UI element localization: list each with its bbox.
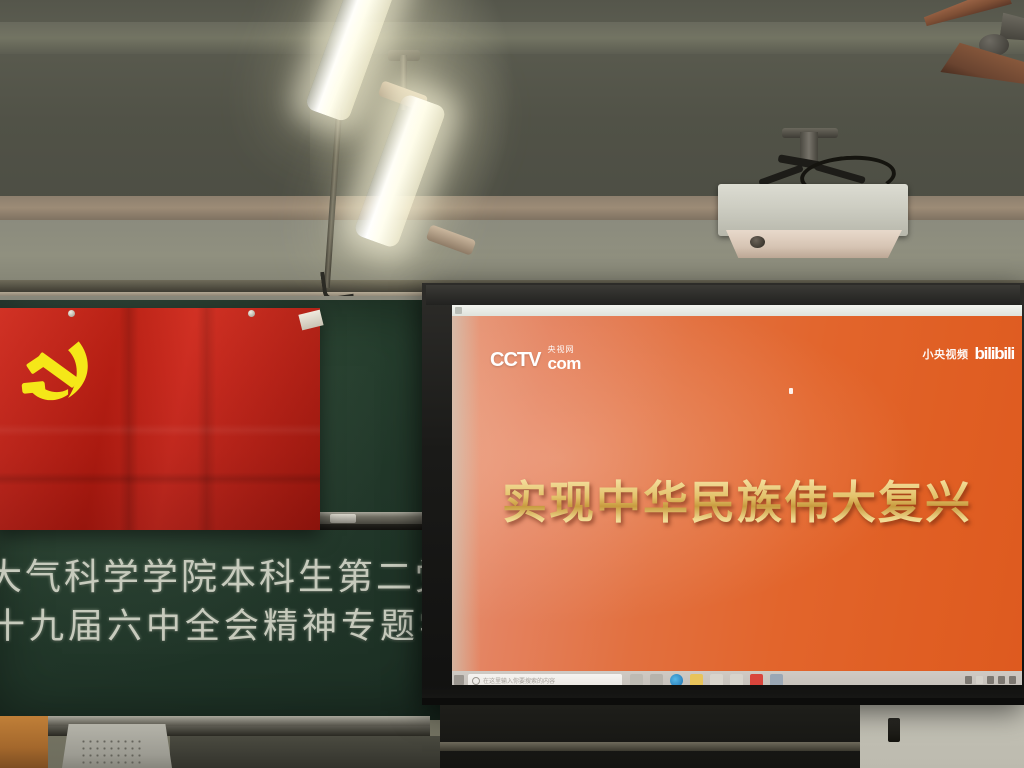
settings-icon[interactable] (630, 674, 643, 685)
display-screen[interactable]: CCTV 央视网 com 小央视频 bilibili 实现中华民族伟大复兴 在这… (452, 305, 1022, 685)
ceiling-projector: EPSON (716, 150, 912, 260)
flag-pin-icon (68, 310, 75, 317)
mail-icon[interactable] (730, 674, 743, 685)
cpc-party-flag (0, 308, 320, 530)
chalkboard-bottom-rail (0, 716, 430, 726)
display-bezel-top (426, 285, 1020, 305)
bilibili-logo-text: bilibili (974, 344, 1014, 364)
store-icon[interactable] (710, 674, 723, 685)
light-switch[interactable] (888, 718, 900, 742)
search-icon (472, 677, 480, 685)
chevron-up-icon[interactable] (965, 676, 972, 684)
windows-start-icon[interactable] (454, 675, 464, 685)
speaker-grille-icon (80, 738, 144, 764)
wood-trim (0, 716, 48, 768)
fluorescent-tube-icon (304, 0, 402, 123)
ceiling-fan (915, 0, 1024, 107)
fan-blade-icon (922, 0, 1012, 31)
shield-icon[interactable] (976, 676, 983, 684)
projector-lens-icon (750, 236, 765, 248)
fluorescent-light-fixture (300, 0, 520, 300)
cctv-com-label: com (547, 355, 580, 372)
hammer-and-sickle-icon (16, 336, 106, 414)
taskbar-pinned-icons[interactable] (630, 674, 783, 685)
windows-taskbar[interactable]: 在这里输入你要搜索的内容 (452, 671, 1022, 685)
display-bottom-shadow (422, 698, 1024, 705)
mouse-cursor-dot (789, 388, 793, 394)
window-icon (455, 307, 462, 314)
chalkboard-bottom-rail-lip (0, 726, 430, 736)
pdf-reader-icon[interactable] (750, 674, 763, 685)
system-tray[interactable] (965, 676, 1016, 684)
slide-title: 实现中华民族伟大复兴 (452, 466, 1022, 531)
volume-icon[interactable] (998, 676, 1005, 684)
file-explorer-icon[interactable] (690, 674, 703, 685)
rail-clip (330, 514, 356, 523)
presentation-slide: CCTV 央视网 com 小央视频 bilibili 实现中华民族伟大复兴 (452, 316, 1022, 671)
network-icon[interactable] (987, 676, 994, 684)
search-input[interactable]: 在这里输入你要搜索的内容 (468, 674, 622, 685)
task-view-icon[interactable] (650, 674, 663, 685)
bilibili-watermark: 小央视频 bilibili (922, 344, 1014, 364)
media-player-icon[interactable] (770, 674, 783, 685)
window-titlebar[interactable] (452, 305, 1022, 316)
cctv-watermark: CCTV 央视网 com (490, 346, 581, 372)
classroom-photo: EPSON 大气科学学院本科生第二党支部 十九届六中全会精神专题学习 (0, 0, 1024, 768)
edge-icon[interactable] (670, 674, 683, 685)
bilibili-chinese-label: 小央视频 (922, 346, 968, 362)
projector-body: EPSON (718, 184, 908, 236)
lower-wall-dark-area (440, 705, 860, 768)
search-placeholder: 在这里输入你要搜索的内容 (483, 676, 555, 685)
tube-end-cap (426, 224, 477, 255)
cctv-chinese-label: 央视网 (547, 346, 580, 354)
cctv-subtext: 央视网 com (547, 346, 580, 372)
input-method-icon[interactable] (1009, 676, 1016, 684)
cctv-logo-text: CCTV (490, 349, 540, 372)
lower-wall-rail (440, 742, 860, 751)
flag-pin-icon (248, 310, 255, 317)
lower-board-shadow (170, 736, 440, 768)
